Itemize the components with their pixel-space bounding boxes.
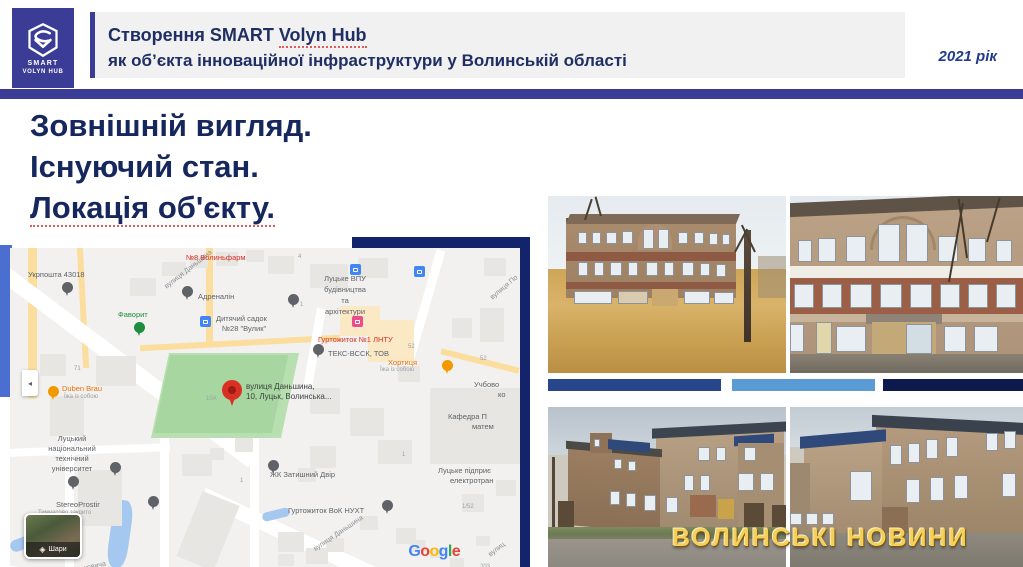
map-icon-dormitory[interactable] <box>352 316 363 327</box>
map-label-kafedra-2: матем <box>472 422 494 431</box>
title-accent-bar <box>90 12 95 78</box>
divider-bar-1 <box>548 379 721 391</box>
photo-building-roof <box>566 214 740 224</box>
map-label-uchbovo: Учбово <box>474 380 499 389</box>
map-building <box>378 440 412 464</box>
map-building <box>310 446 336 468</box>
header-title-line1-plain: Створення SMART <box>108 25 279 45</box>
map-layers-button[interactable]: ◈ Шари <box>24 513 82 559</box>
header-divider-bar <box>0 89 1023 99</box>
map-building <box>235 438 253 452</box>
map-label-vpu-1: Луцьке ВПУ <box>290 274 400 283</box>
map-label-adrenalin: Адреналін <box>198 292 234 301</box>
slide-headings: Зовнішній вигляд. Існуючий стан. Локація… <box>30 105 530 229</box>
map-building <box>78 470 122 526</box>
map-label-khortytsia: Хортиця <box>388 358 417 367</box>
map-building <box>452 318 472 338</box>
map-pin-zhk-zatyshnyi-2[interactable] <box>268 460 279 475</box>
header-title-block: Створення SMART Volyn Hub як об’єкта інн… <box>108 22 878 74</box>
map-label-selected-address-2: 10, Луцьк, Волинська... <box>246 392 332 402</box>
photo-band <box>566 282 736 289</box>
map-collapse-button[interactable]: ◂ <box>22 370 38 396</box>
map-label-duben-brau: Duben Brau <box>62 384 102 393</box>
divider-bars <box>548 379 1023 391</box>
map-pin-stereoprostir[interactable] <box>148 496 159 511</box>
google-logo: Google <box>408 543 460 561</box>
map-label-duben-brau-sub: Їжа із собою <box>64 394 98 402</box>
map-label-nukht: Гуртожиток ВоК НУХТ <box>288 506 364 515</box>
map-icon-school-2[interactable] <box>414 266 425 277</box>
map-building <box>246 250 264 262</box>
logo-text-smart: SMART <box>28 60 59 67</box>
photo-band <box>566 252 736 261</box>
map-building <box>268 256 294 274</box>
map-pin-zhk-zatyshnyi[interactable] <box>110 462 121 477</box>
logo-text-volyn-hub: VOLYN HUB <box>22 69 63 75</box>
map-building <box>480 308 504 342</box>
map-label-house-number: 1/52 <box>462 504 474 512</box>
map-pin-favoryt[interactable] <box>134 322 145 337</box>
photo-tree <box>744 230 751 342</box>
map-pin-selected-address[interactable] <box>222 380 242 407</box>
divider-bar-2 <box>732 379 875 391</box>
map-label-vpu-2: будівництва <box>290 285 400 294</box>
map-label-volynfarm: №8 Волиньфарм <box>186 253 246 262</box>
map-label-teks-vssk: ТЕКС-ВССК, ТОВ <box>328 349 389 358</box>
map-building <box>278 554 294 566</box>
map-building <box>210 448 224 460</box>
map-pin-duben-brau[interactable] <box>48 386 59 401</box>
slide-header: SMART VOLYN HUB Створення SMART Volyn Hu… <box>0 0 1023 88</box>
map-pin-ukrposhta[interactable] <box>62 282 73 297</box>
header-year: 2021 рік <box>939 48 997 65</box>
map-label-vpu-4: архітектури <box>290 307 400 316</box>
smart-volyn-hub-logo: SMART VOLYN HUB <box>12 8 74 88</box>
map-road <box>77 248 89 368</box>
map-label-lntu-2: національний <box>16 444 128 453</box>
map-label-dormitory-lntu: Гуртожиток №1 ЛНТУ <box>318 335 393 344</box>
map-canvas[interactable]: вулиця Даньшина вулиця По вулиця Даньшин… <box>10 248 520 567</box>
map-building <box>484 258 506 276</box>
map-building <box>350 408 384 436</box>
map-building <box>176 491 239 567</box>
heading-line-1: Зовнішній вигляд. <box>30 105 530 146</box>
map-label-kindergarten-2: №28 "Вулик" <box>222 324 266 333</box>
map-label-electrotrans: Луцьке підприє <box>438 466 491 475</box>
map-label-favoryt: Фаворит <box>118 310 148 319</box>
photo-building-facade-closeup <box>790 196 1023 373</box>
map-pin-lntu[interactable] <box>68 476 79 491</box>
layers-icon: ◈ <box>39 545 45 554</box>
map-label-uchbovo-2: ко <box>498 390 506 399</box>
map-label-kindergarten-1: Дитячий садок <box>216 314 267 323</box>
map-frame-right <box>520 237 530 567</box>
map-label-kafedra: Кафедра П <box>448 412 487 421</box>
map-layers-button-label: Шари <box>49 546 67 553</box>
map-building <box>182 454 212 476</box>
heading-line-3: Локація об'єкту. <box>30 190 275 227</box>
map-label-stereoprostir: StereoProstir <box>56 500 100 509</box>
map-street-label: вулиця Олекси Ошурковича <box>16 561 107 567</box>
map-pin-nukht[interactable] <box>382 500 393 515</box>
photo-building-rear-autumn <box>548 196 786 373</box>
map-label-zhk-zatyshnyi: ЖК Затишний Двір <box>270 470 335 479</box>
map-building <box>96 356 136 386</box>
map-building <box>278 532 304 552</box>
photo-watermark: ВОЛИНСЬКІ НОВИНИ <box>672 524 969 553</box>
photo-entrance <box>652 289 678 306</box>
map-label-vpu-3: та <box>290 296 400 305</box>
header-title-line1-misspelled: Volyn Hub <box>279 25 367 48</box>
header-title-line2: як об’єкта інноваційної інфраструктури у… <box>108 48 878 74</box>
map-building <box>476 536 490 546</box>
location-map[interactable]: вулиця Даньшина вулиця По вулиця Даньшин… <box>0 237 530 567</box>
divider-bar-3 <box>883 379 1023 391</box>
map-label-electrotrans-2: електротран <box>450 476 493 485</box>
map-label-ukrposhta: Укрпошта 43018 <box>28 270 85 279</box>
map-pin-teks-vssk[interactable] <box>313 344 324 359</box>
shield-s-logo-icon <box>25 22 61 58</box>
map-building <box>40 354 66 376</box>
map-label-lntu-1: Луцький <box>16 434 128 443</box>
map-street-label: вулиц <box>487 541 507 560</box>
map-building <box>130 278 156 296</box>
map-building <box>496 480 516 496</box>
heading-line-2: Існуючий стан. <box>30 146 530 187</box>
map-label-selected-address-1: вулиця Даньшина, <box>246 382 315 392</box>
header-title-line1: Створення SMART Volyn Hub <box>108 22 878 48</box>
map-pin-adrenalin[interactable] <box>182 286 193 301</box>
map-building <box>50 396 84 436</box>
map-street-label: вулиця По <box>489 274 520 302</box>
map-layers-button-caption: ◈ Шари <box>26 542 80 557</box>
map-icon-bank[interactable] <box>200 316 211 327</box>
map-pin-khortytsia[interactable] <box>442 360 453 375</box>
map-label-khortytsia-sub: Їжа із собою <box>380 367 414 375</box>
